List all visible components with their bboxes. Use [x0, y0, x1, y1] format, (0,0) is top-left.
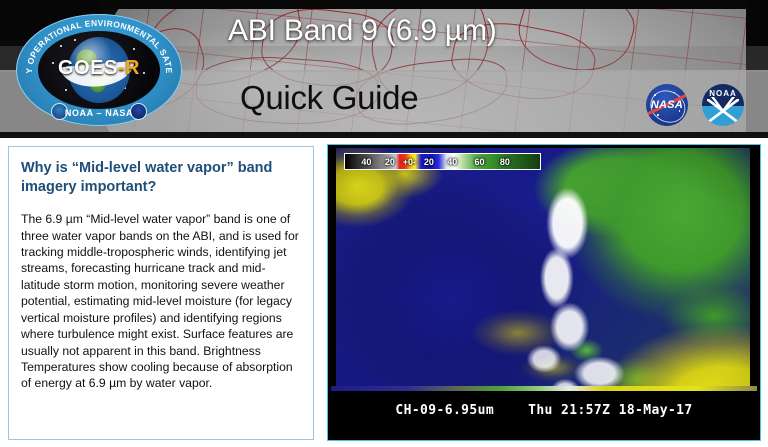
image-channel-label: CH-09-6.95um — [395, 403, 494, 418]
satellite-image-canvas: 40 20 +0- 20 40 60 80 CH-09-6.95umThu 21… — [331, 148, 757, 437]
colorbar-tick-label: +0- — [403, 157, 416, 167]
colorbar-gradient — [345, 154, 540, 169]
satellite-image-panel: 40 20 +0- 20 40 60 80 CH-09-6.95umThu 21… — [327, 144, 761, 441]
goes-r-logo: GEOSTATIONARY OPERATIONAL ENVIRONMENTAL … — [16, 14, 182, 126]
panel-body-text: The 6.9 µm “Mid-level water vapor” band … — [21, 211, 301, 391]
panel-heading: Why is “Mid-level water vapor” band imag… — [21, 159, 301, 197]
quick-guide-page: GEOSTATIONARY OPERATIONAL ENVIRONMENTAL … — [0, 0, 768, 447]
colorbar-tick-label: 40 — [361, 157, 371, 167]
goes-r-wordmark: GOES-R — [16, 57, 182, 80]
colorbar-tick-label: 80 — [500, 157, 510, 167]
page-title: ABI Band 9 (6.9 µm) — [228, 14, 648, 48]
goes-r-wordmark-dash: - — [118, 57, 125, 79]
image-status-row: CH-09-6.95umThu 21:57Z 18-May-17 — [331, 403, 757, 418]
page-subtitle: Quick Guide — [240, 79, 570, 117]
nasa-logo-label: NASA — [646, 99, 688, 111]
image-status-strip: CH-09-6.95umThu 21:57Z 18-May-17 — [331, 391, 757, 437]
colorbar-tick-label: 20 — [385, 157, 395, 167]
colorbar-tick-label: 60 — [475, 157, 485, 167]
nasa-logo-icon: NASA — [646, 84, 688, 126]
page-body: Why is “Mid-level water vapor” band imag… — [0, 138, 768, 447]
header-mask-top — [0, 0, 768, 9]
explanation-panel: Why is “Mid-level water vapor” band imag… — [8, 146, 314, 440]
page-header: GEOSTATIONARY OPERATIONAL ENVIRONMENTAL … — [0, 0, 768, 138]
image-timestamp-label: Thu 21:57Z 18-May-17 — [528, 403, 693, 418]
temperature-colorbar: 40 20 +0- 20 40 60 80 — [344, 153, 541, 170]
goes-r-wordmark-r: R — [125, 57, 140, 79]
goes-r-wordmark-goes: GOES — [58, 57, 118, 79]
goes-r-agencies-label: NOAA – NASA — [16, 108, 182, 118]
noaa-logo-icon: NOAA — [702, 84, 744, 126]
colorbar-tick-label: 20 — [424, 157, 434, 167]
colorbar-tick-label: 40 — [447, 157, 457, 167]
